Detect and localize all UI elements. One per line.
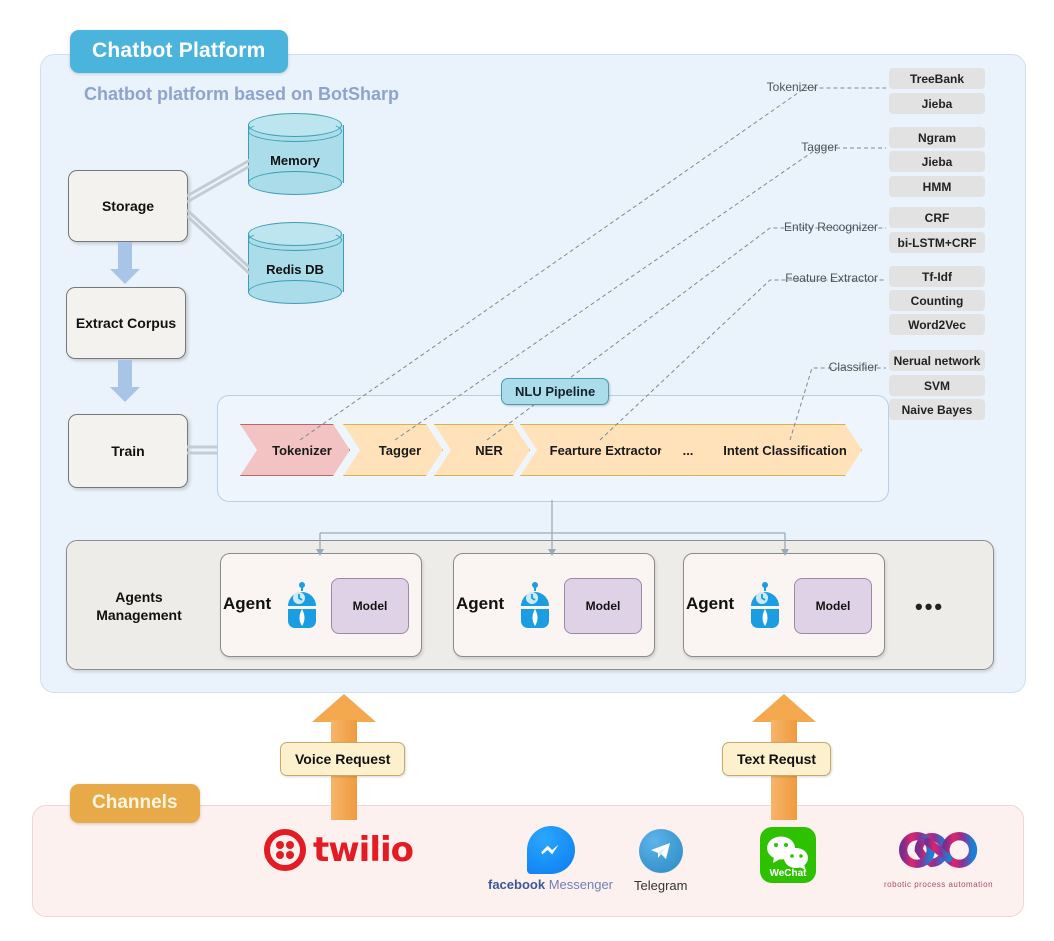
cylinder-rib [248, 120, 342, 142]
algo-naive-bayes[interactable]: Naive Bayes [889, 399, 985, 420]
redis-database[interactable]: Redis DB [248, 222, 344, 304]
memory-label: Memory [248, 153, 342, 168]
stage-label: Fearture Extractor [550, 443, 663, 458]
model-label: Model [353, 599, 388, 613]
rpa-caption: robotic process automation [884, 880, 993, 889]
arrow-head [110, 269, 140, 284]
storage-box[interactable]: Storage [68, 170, 188, 242]
wechat-logo-icon: WeChat [760, 827, 816, 883]
agent-card[interactable]: Agent Model [453, 553, 655, 657]
algo-crf[interactable]: CRF [889, 207, 985, 228]
cylinder-bottom [248, 280, 342, 304]
agent-label: Agent [223, 594, 271, 614]
storage-label: Storage [102, 198, 154, 214]
algo-treebank[interactable]: TreeBank [889, 68, 985, 89]
model-label: Model [586, 599, 621, 613]
algo-bilstm-crf[interactable]: bi-LSTM+CRF [889, 232, 985, 253]
algo-neural-network[interactable]: Nerual network [889, 350, 985, 371]
algo-group-label-tagger: Tagger [760, 140, 838, 154]
messenger-text: Messenger [549, 877, 613, 892]
algo-group-label-feature-extractor: Feature Extractor [660, 271, 878, 285]
channel-telegram[interactable]: Telegram [634, 829, 687, 893]
stage-label: NER [475, 443, 502, 458]
agents-title-line2: Management [84, 606, 194, 624]
memory-database[interactable]: Memory [248, 113, 344, 195]
agent-card[interactable]: Agent Model [683, 553, 885, 657]
twilio-logo-icon: twilio [264, 829, 413, 871]
arrow-stem [118, 242, 132, 270]
platform-subtitle: Chatbot platform based on BotSharp [84, 84, 399, 105]
arrow-stem [118, 360, 132, 388]
arrow-head-icon [312, 694, 376, 722]
channel-wechat[interactable]: WeChat [760, 827, 816, 883]
algo-jieba-tokenizer[interactable]: Jieba [889, 93, 985, 114]
wechat-caption: WeChat [760, 868, 816, 879]
twilio-wordmark: twilio [313, 830, 413, 870]
stage-label: ... [683, 443, 694, 458]
stage-label: Intent Classification [723, 443, 847, 458]
agents-management-title: Agents Management [84, 588, 194, 624]
arrow-head [110, 387, 140, 402]
channels-title-badge: Channels [70, 784, 200, 823]
redis-label: Redis DB [248, 262, 342, 277]
algo-tfidf[interactable]: Tf-Idf [889, 266, 985, 287]
algo-group-label-classifier: Classifier [740, 360, 878, 374]
agent-label: Agent [686, 594, 734, 614]
algo-svm[interactable]: SVM [889, 375, 985, 396]
robot-icon [517, 582, 553, 628]
twilio-mark-icon [264, 829, 306, 871]
train-box[interactable]: Train [68, 414, 188, 488]
telegram-logo-icon [639, 829, 683, 873]
channel-messenger[interactable]: facebook Messenger [488, 826, 613, 892]
algo-counting[interactable]: Counting [889, 290, 985, 311]
train-label: Train [111, 443, 144, 459]
cylinder-rib [248, 229, 342, 251]
messenger-caption: facebook Messenger [488, 877, 613, 892]
model-box[interactable]: Model [564, 578, 642, 634]
algo-jieba-tagger[interactable]: Jieba [889, 151, 985, 172]
algo-group-label-tokenizer: Tokenizer [738, 80, 818, 94]
agent-card[interactable]: Agent Model [220, 553, 422, 657]
algo-hmm[interactable]: HMM [889, 176, 985, 197]
facebook-text: facebook [488, 877, 545, 892]
agents-more-ellipsis: ••• [915, 594, 944, 620]
nlu-pipeline-badge: NLU Pipeline [501, 378, 609, 405]
model-box[interactable]: Model [331, 578, 409, 634]
platform-title-badge: Chatbot Platform [70, 30, 288, 73]
agents-title-line1: Agents [84, 588, 194, 606]
arrow-head-icon [752, 694, 816, 722]
voice-request-label: Voice Request [280, 742, 405, 776]
pipeline-stage-intent-classification[interactable]: Intent Classification [694, 424, 862, 476]
messenger-logo-icon [527, 826, 575, 874]
telegram-caption: Telegram [634, 878, 687, 893]
model-label: Model [816, 599, 851, 613]
algo-ngram[interactable]: Ngram [889, 127, 985, 148]
robot-icon [284, 582, 320, 628]
algo-word2vec[interactable]: Word2Vec [889, 314, 985, 335]
stage-label: Tagger [379, 443, 421, 458]
rpa-infinity-icon [887, 827, 991, 878]
channel-rpa[interactable]: robotic process automation [884, 827, 993, 889]
extract-corpus-box[interactable]: Extract Corpus [66, 287, 186, 359]
storage-to-corpus-arrow [110, 242, 140, 284]
robot-icon [747, 582, 783, 628]
text-request-label: Text Requst [722, 742, 831, 776]
cylinder-bottom [248, 171, 342, 195]
stage-label: Tokenizer [272, 443, 332, 458]
agent-label: Agent [456, 594, 504, 614]
corpus-to-train-arrow [110, 360, 140, 402]
channel-twilio[interactable]: twilio [264, 829, 413, 871]
algo-group-label-entity-recognizer: Entity Recognizer [660, 220, 878, 234]
extract-corpus-label: Extract Corpus [76, 315, 176, 331]
model-box[interactable]: Model [794, 578, 872, 634]
